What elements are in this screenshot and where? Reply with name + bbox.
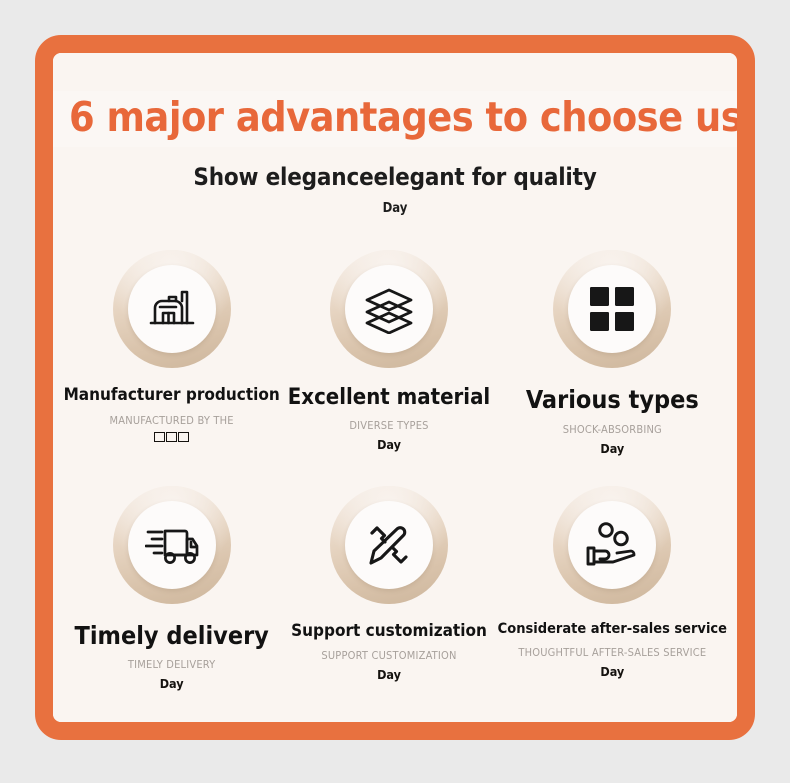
advantage-caption: THOUGHTFUL AFTER-SALES SERVICE — [518, 646, 706, 659]
advantage-title: Timely delivery — [74, 622, 268, 650]
advantage-card[interactable]: Timely deliveryTIMELY DELIVERYDay — [63, 486, 280, 692]
medallion-ring — [113, 486, 231, 604]
advantage-caption: TIMELY DELIVERY — [128, 658, 216, 671]
page-subtitle: Show eleganceelegant for quality — [53, 163, 737, 191]
layers-icon — [345, 265, 433, 353]
medallion-ring — [113, 250, 231, 368]
advantage-card[interactable]: Support customizationSUPPORT CUSTOMIZATI… — [280, 486, 497, 692]
advantage-day: Day — [377, 667, 401, 682]
advantage-day: Day — [377, 437, 401, 452]
advantage-card[interactable]: Considerate after-sales serviceTHOUGHTFU… — [498, 486, 727, 692]
advantage-caption: SUPPORT CUSTOMIZATION — [321, 649, 456, 662]
advantages-poster: 6 major advantages to choose us Show ele… — [35, 35, 755, 740]
advantages-grid: Manufacturer productionMANUFACTURED BY T… — [53, 250, 737, 691]
page-subtitle-day: Day — [53, 201, 737, 216]
advantage-title: Manufacturer production — [64, 386, 280, 405]
medallion-ring — [330, 250, 448, 368]
advantage-card[interactable]: Excellent materialDIVERSE TYPESDay — [280, 250, 497, 456]
poster-inner: 6 major advantages to choose us Show ele… — [53, 53, 737, 722]
tofu-box-icon — [154, 432, 165, 442]
poster-header: 6 major advantages to choose us Show ele… — [53, 53, 737, 216]
missing-glyph-placeholder — [154, 432, 189, 442]
grid-squares-icon — [568, 265, 656, 353]
advantage-title: Considerate after-sales service — [498, 622, 727, 638]
advantage-caption: MANUFACTURED BY THE — [110, 414, 234, 427]
delivery-truck-icon — [128, 501, 216, 589]
advantage-card[interactable]: Manufacturer productionMANUFACTURED BY T… — [63, 250, 280, 456]
heading-band: 6 major advantages to choose us — [53, 91, 755, 147]
pen-ruler-icon — [345, 501, 433, 589]
tofu-box-icon — [178, 432, 189, 442]
advantage-day: Day — [600, 664, 624, 679]
advantage-card[interactable]: Various typesSHOCK-ABSORBINGDay — [498, 250, 727, 456]
hand-coins-icon — [568, 501, 656, 589]
factory-icon — [128, 265, 216, 353]
advantage-caption: DIVERSE TYPES — [349, 419, 428, 432]
advantage-day: Day — [160, 676, 184, 691]
medallion-ring — [553, 250, 671, 368]
tofu-box-icon — [166, 432, 177, 442]
advantage-title: Excellent material — [288, 386, 490, 410]
medallion-ring — [553, 486, 671, 604]
medallion-ring — [330, 486, 448, 604]
advantage-title: Various types — [526, 386, 699, 414]
page-title: 6 major advantages to choose us — [69, 93, 742, 141]
advantage-title: Support customization — [291, 622, 487, 641]
advantage-caption: SHOCK-ABSORBING — [563, 423, 662, 436]
advantage-day: Day — [600, 441, 624, 456]
